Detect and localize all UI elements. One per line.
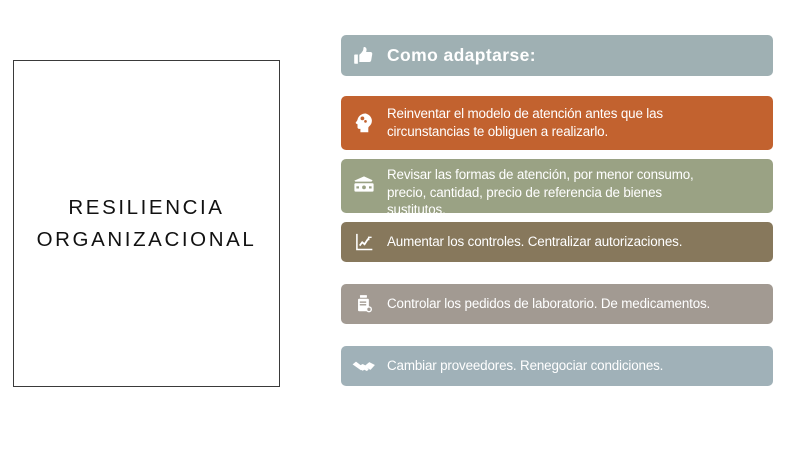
step-label-proveedores: Cambiar proveedores. Renegociar condicio… xyxy=(387,357,773,375)
step-label-reinventar: Reinventar el modelo de atención antes q… xyxy=(387,105,773,140)
step-label-revisar: Revisar las formas de atención, por meno… xyxy=(387,159,773,213)
money-cash-icon xyxy=(341,159,387,213)
step-row-reinventar[interactable]: Reinventar el modelo de atención antes q… xyxy=(341,96,773,150)
step-row-proveedores[interactable]: Cambiar proveedores. Renegociar condicio… xyxy=(341,346,773,386)
line-chart-icon xyxy=(341,231,387,253)
adaptation-steps-list: Como adaptarse: Reinventar el modelo de … xyxy=(341,35,773,386)
head-gear-icon xyxy=(341,111,387,135)
medicine-bottle-icon xyxy=(341,293,387,315)
list-header-label: Como adaptarse: xyxy=(387,44,773,67)
page-title: RESILIENCIA ORGANIZACIONAL xyxy=(31,192,263,254)
step-label-controles: Aumentar los controles. Centralizar auto… xyxy=(387,233,773,251)
title-card: RESILIENCIA ORGANIZACIONAL xyxy=(13,60,280,387)
list-header-row[interactable]: Como adaptarse: xyxy=(341,35,773,76)
step-label-laboratorio: Controlar los pedidos de laboratorio. De… xyxy=(387,295,773,313)
thumbs-up-icon xyxy=(341,45,387,67)
step-row-controles[interactable]: Aumentar los controles. Centralizar auto… xyxy=(341,222,773,262)
step-row-revisar[interactable]: Revisar las formas de atención, por meno… xyxy=(341,159,773,213)
handshake-icon xyxy=(341,353,387,379)
step-row-laboratorio[interactable]: Controlar los pedidos de laboratorio. De… xyxy=(341,284,773,324)
